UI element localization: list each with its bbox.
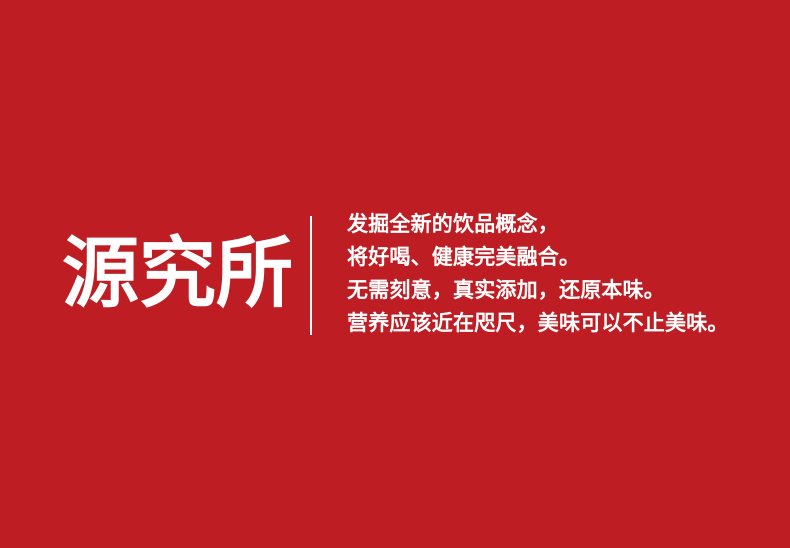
brand-banner: 源究所 发掘全新的饮品概念， 将好喝、健康完美融合。 无需刻意，真实添加，还原本… <box>0 0 790 548</box>
tagline-line-3: 无需刻意，真实添加，还原本味。 <box>347 274 665 307</box>
tagline-line-1: 发掘全新的饮品概念， <box>347 208 559 241</box>
tagline-line-4: 营养应该近在咫尺，美味可以不止美味。 <box>347 307 729 340</box>
brand-name: 源究所 <box>62 236 293 313</box>
brand-logo: 源究所 <box>0 236 310 313</box>
brand-lockup: 源究所 发掘全新的饮品概念， 将好喝、健康完美融合。 无需刻意，真实添加，还原本… <box>0 0 790 548</box>
vertical-divider-icon <box>310 216 312 335</box>
tagline-block: 发掘全新的饮品概念， 将好喝、健康完美融合。 无需刻意，真实添加，还原本味。 营… <box>347 208 729 340</box>
tagline-line-2: 将好喝、健康完美融合。 <box>347 241 580 274</box>
